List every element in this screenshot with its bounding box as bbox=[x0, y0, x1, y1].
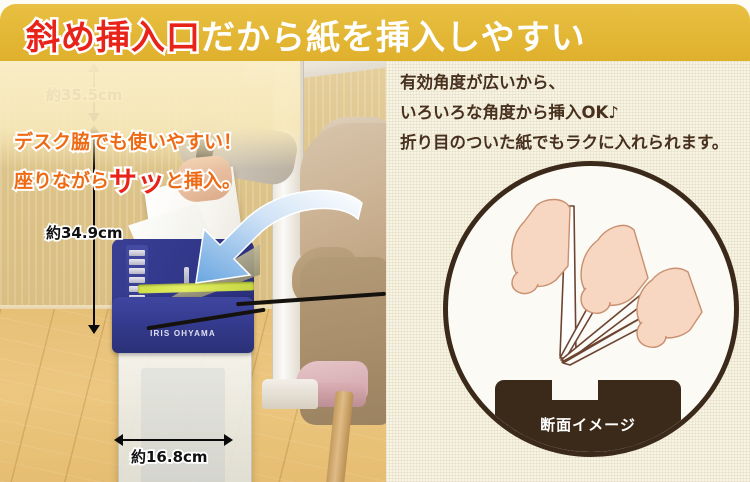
header-bar: 斜め挿入口だから紙を挿入しやすい bbox=[0, 4, 750, 61]
control-button bbox=[129, 250, 145, 256]
header-title-highlight: 斜め挿入口 bbox=[26, 18, 201, 58]
caption-line2-post: と挿入。 bbox=[165, 170, 241, 192]
product-photo-panel: IRIS OHYAMA 約35.5cm bbox=[0, 61, 386, 482]
shredder-control-panel bbox=[126, 245, 148, 303]
cross-section-label: 断面イメージ bbox=[495, 414, 681, 435]
brand-logo: IRIS OHYAMA bbox=[112, 329, 254, 338]
caption-line2-pre: 座りながら bbox=[14, 170, 109, 192]
desk-foot bbox=[262, 379, 318, 409]
dimension-label-height-lower: 約34.9cm bbox=[46, 222, 123, 243]
caption-line2-emphasis: サッ bbox=[109, 165, 165, 198]
control-button bbox=[129, 268, 145, 274]
caption-line-1: デスク脇でも使いやすい！ bbox=[14, 127, 242, 154]
slot-opening bbox=[552, 380, 598, 400]
dimension-label-width: 約16.8cm bbox=[131, 446, 208, 467]
explanation-line-3: 折り目のついた紙でもラクに入れられます。 bbox=[400, 129, 728, 153]
slot-label-box: 断面イメージ bbox=[495, 380, 681, 457]
control-button bbox=[129, 277, 145, 283]
caption-line-2: 座りながらサッと挿入。 bbox=[14, 160, 241, 200]
explanation-line-1: 有効角度が広いから、 bbox=[400, 69, 565, 93]
header-title-rest: だから紙を挿入しやすい bbox=[201, 18, 586, 58]
explanation-line-2: いろいろな角度から挿入OK♪ bbox=[400, 99, 619, 123]
shredder-front-panel: IRIS OHYAMA bbox=[112, 297, 254, 353]
advertisement-banner: 斜め挿入口だから紙を挿入しやすい bbox=[0, 0, 750, 482]
control-button bbox=[129, 259, 145, 265]
page-title: 斜め挿入口だから紙を挿入しやすい bbox=[26, 10, 586, 59]
cross-section-illustration: 断面イメージ bbox=[443, 161, 739, 457]
explanation-panel: 有効角度が広いから、 いろいろな角度から挿入OK♪ 折り目のついた紙でもラクに入… bbox=[386, 61, 750, 482]
